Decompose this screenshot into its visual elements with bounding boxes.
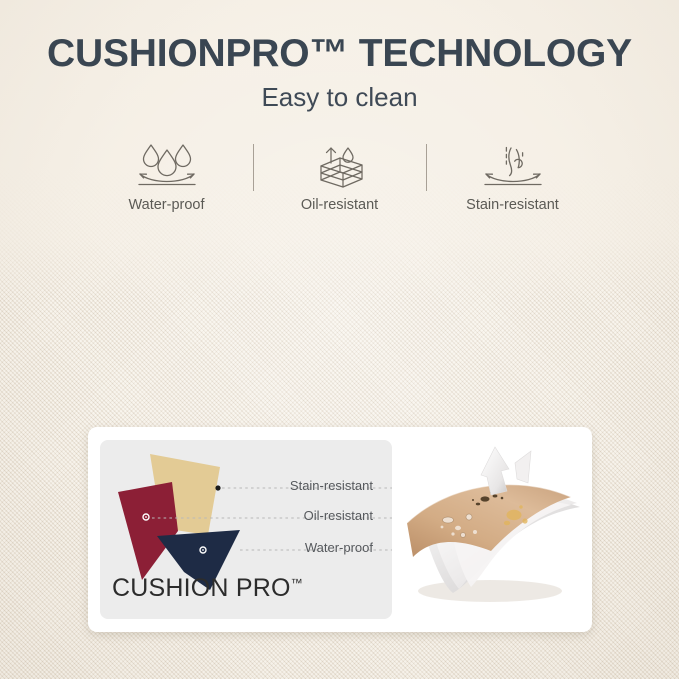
water-droplets-on-surface-icon — [134, 138, 200, 194]
callout-label-stain-resistant: Stain-resistant — [290, 478, 373, 493]
wordmark-trademark: ™ — [291, 576, 303, 590]
feature-label: Stain-resistant — [466, 197, 559, 213]
stain-splatter-on-surface-icon — [480, 138, 546, 194]
feature-oil-resistant: Oil-resistant — [254, 138, 426, 213]
feature-list: Water-proof Oil-resistant — [0, 138, 679, 230]
cushion-pro-wordmark: CUSHION PRO™ — [112, 574, 303, 603]
callout-label-list: Stain-resistant Oil-resistant Water-proo… — [240, 478, 373, 558]
oil-droplet-layers-icon — [307, 138, 373, 194]
page-subtitle: Easy to clean — [0, 82, 679, 113]
callout-label-oil-resistant: Oil-resistant — [304, 508, 373, 523]
feature-divider — [253, 144, 254, 191]
feature-divider — [426, 144, 427, 191]
feature-label: Water-proof — [128, 197, 204, 213]
feature-water-proof: Water-proof — [81, 138, 253, 213]
wordmark-text: CUSHION PRO — [112, 574, 291, 602]
product-render — [395, 435, 595, 630]
marker-stain-resistant — [215, 485, 220, 490]
callout-label-water-proof: Water-proof — [305, 540, 373, 555]
swatch-oil-resistant — [118, 482, 178, 580]
product-feature-banner: CUSHIONPRO™ TECHNOLOGY Easy to clean — [0, 0, 679, 679]
page-title: CUSHIONPRO™ TECHNOLOGY — [0, 33, 679, 74]
feature-stain-resistant: Stain-resistant — [427, 138, 599, 213]
feature-label: Oil-resistant — [301, 197, 378, 213]
